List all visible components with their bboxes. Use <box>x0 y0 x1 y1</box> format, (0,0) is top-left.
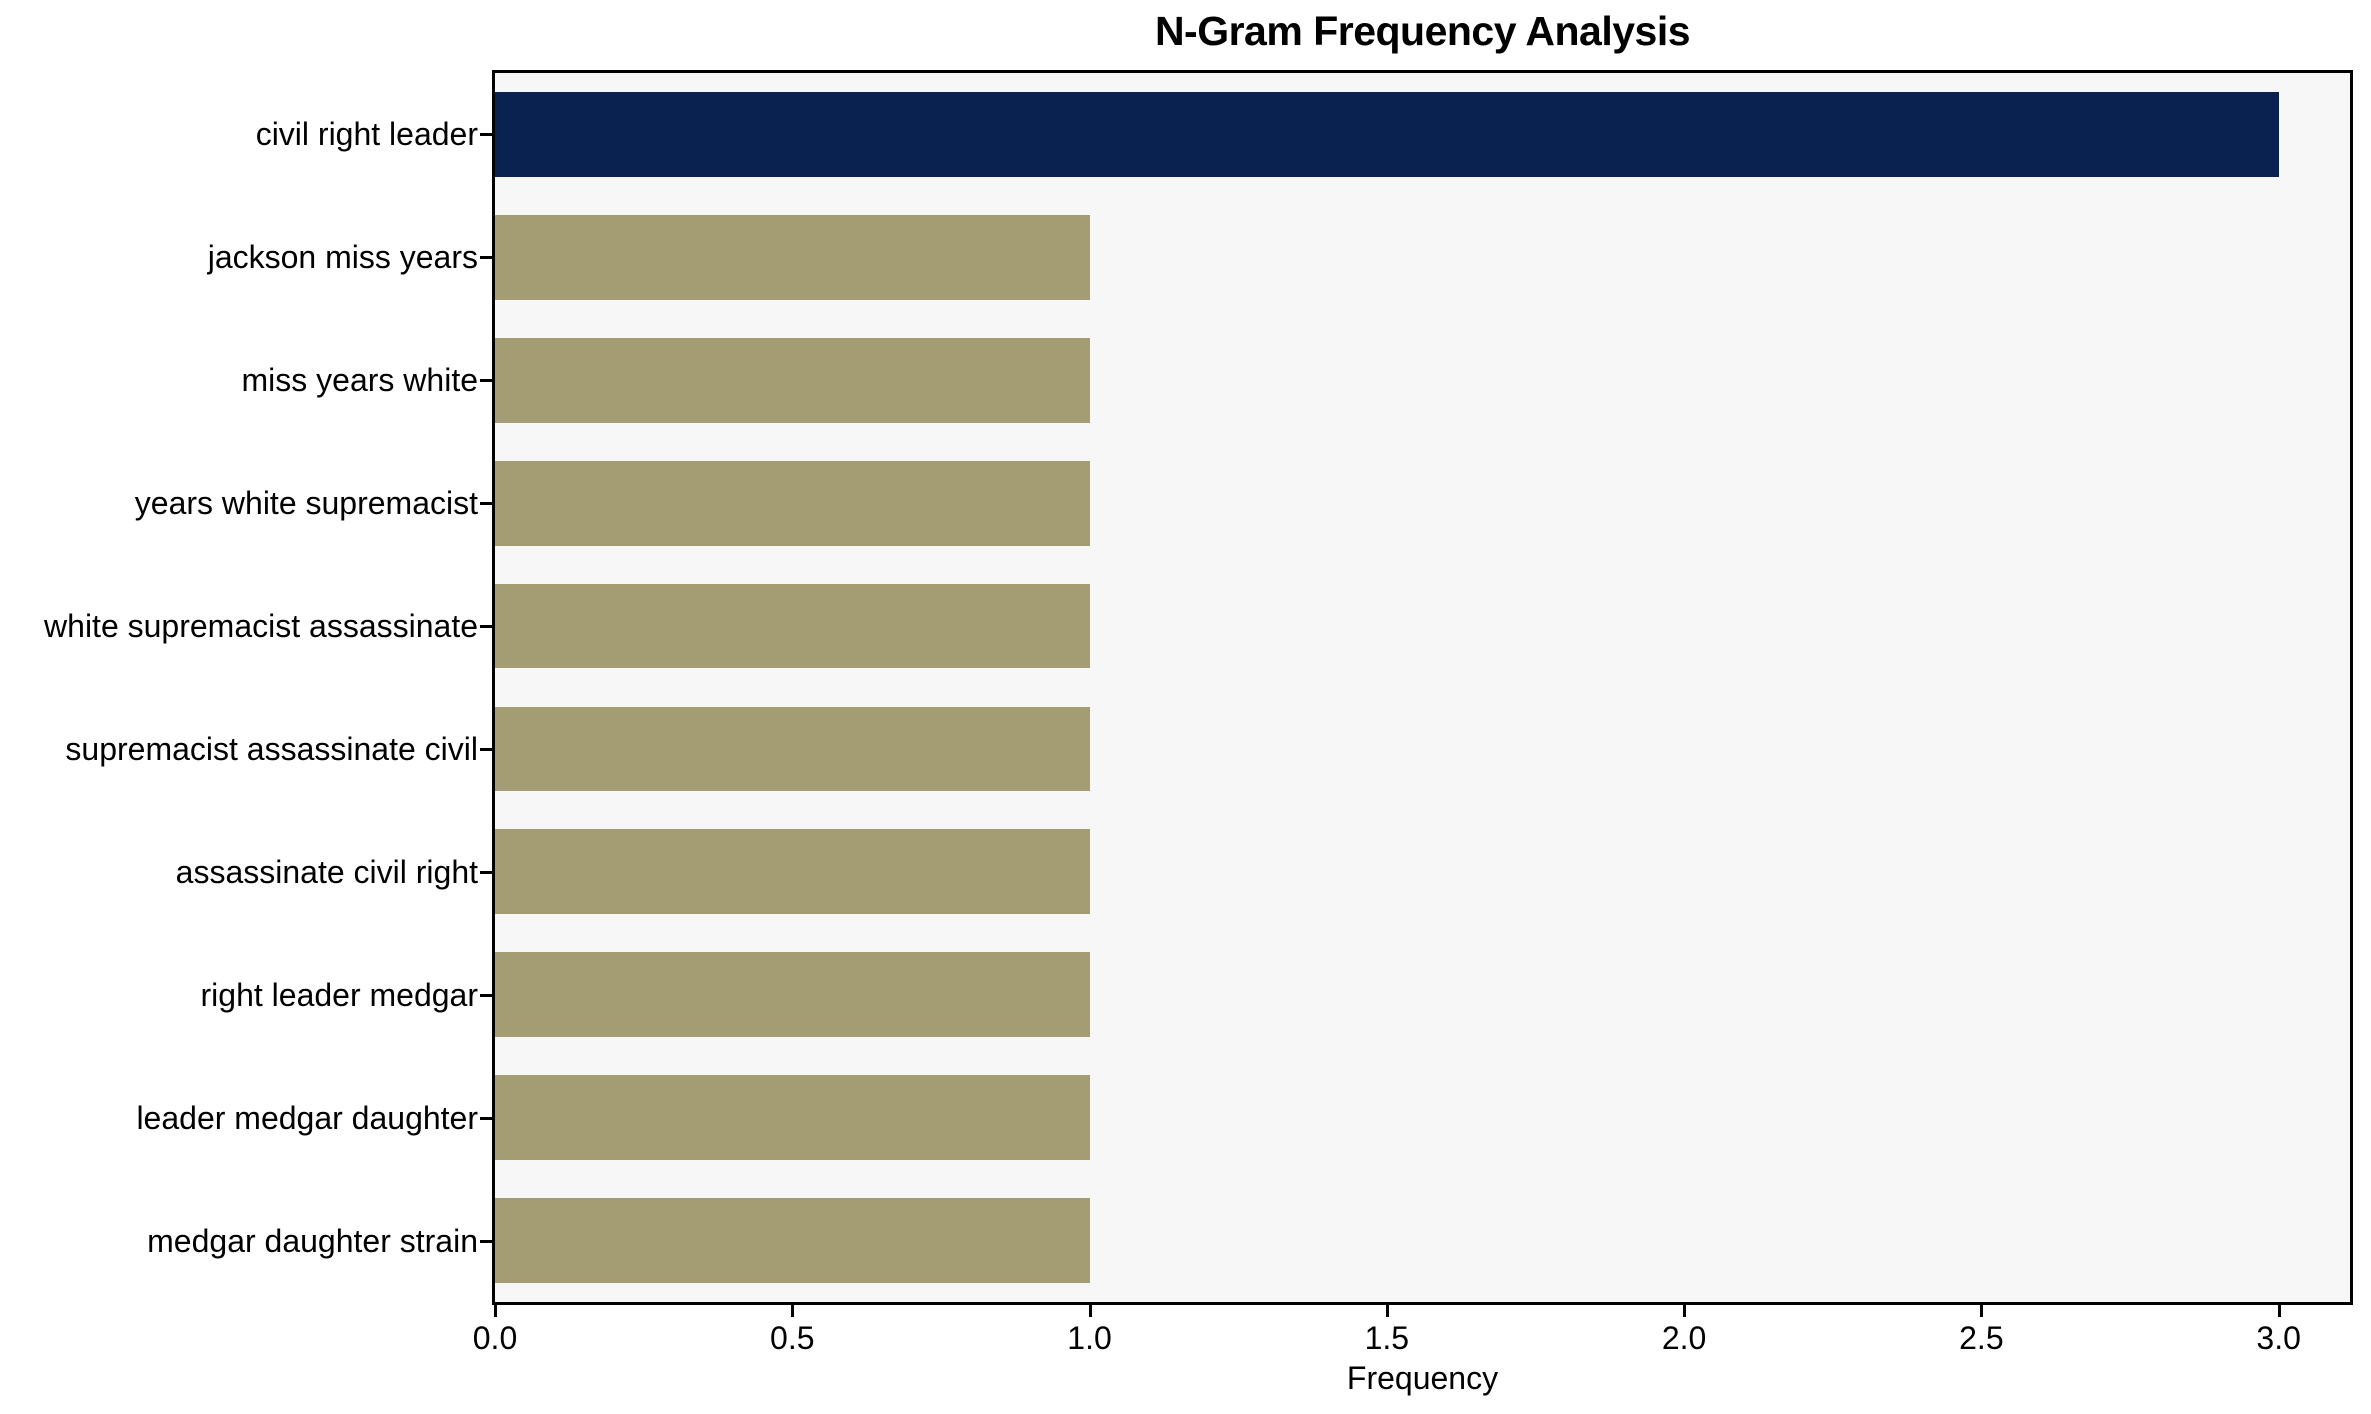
x-axis-tick-label: 2.5 <box>1921 1321 2041 1355</box>
plot-area <box>492 70 2353 1305</box>
y-axis-tick-label: assassinate civil right <box>176 856 478 888</box>
y-axis-tick-label: supremacist assassinate civil <box>65 733 478 765</box>
y-axis-tick-mark <box>480 256 492 259</box>
y-axis-tick-mark <box>480 871 492 874</box>
chart-title: N-Gram Frequency Analysis <box>492 5 2353 57</box>
x-axis-tick-mark <box>1089 1305 1092 1317</box>
bar <box>495 215 1090 300</box>
x-axis-tick-mark <box>494 1305 497 1317</box>
y-axis-tick-label: miss years white <box>242 364 479 396</box>
x-axis-tick-label: 1.0 <box>1030 1321 1150 1355</box>
bar <box>495 461 1090 546</box>
bar <box>495 338 1090 423</box>
y-axis-tick-mark <box>480 502 492 505</box>
x-axis-tick-label: 3.0 <box>2219 1321 2339 1355</box>
x-axis-tick-label: 1.5 <box>1327 1321 1447 1355</box>
x-axis-tick-label: 0.0 <box>435 1321 555 1355</box>
bars-layer <box>495 73 2350 1302</box>
bar <box>495 584 1090 669</box>
y-axis-tick-label: jackson miss years <box>208 241 478 273</box>
x-axis-tick-mark <box>1386 1305 1389 1317</box>
x-axis-label: Frequency <box>492 1360 2353 1397</box>
y-axis-tick-mark <box>480 1240 492 1243</box>
y-axis-tick-mark <box>480 748 492 751</box>
y-axis-tick-mark <box>480 379 492 382</box>
x-axis-tick-mark <box>2278 1305 2281 1317</box>
x-axis-tick-mark <box>1980 1305 1983 1317</box>
bar <box>495 1198 1090 1283</box>
y-axis-tick-mark <box>480 625 492 628</box>
bar <box>495 707 1090 792</box>
y-axis-tick-label: leader medgar daughter <box>136 1102 478 1134</box>
y-axis-tick-label: white supremacist assassinate <box>44 610 478 642</box>
y-axis-tick-mark <box>480 133 492 136</box>
y-axis-tick-mark <box>480 994 492 997</box>
y-axis-tick-label: right leader medgar <box>201 979 478 1011</box>
bar <box>495 829 1090 914</box>
x-axis-tick-label: 0.5 <box>732 1321 852 1355</box>
y-axis-tick-label: years white supremacist <box>135 487 478 519</box>
bar <box>495 92 2279 177</box>
y-axis-tick-label: civil right leader <box>256 118 478 150</box>
chart-figure: N-Gram Frequency Analysis civil right le… <box>0 0 2371 1414</box>
x-axis-tick-label: 2.0 <box>1624 1321 1744 1355</box>
x-axis-tick-mark <box>1683 1305 1686 1317</box>
bar <box>495 952 1090 1037</box>
bar <box>495 1075 1090 1160</box>
y-axis-tick-label: medgar daughter strain <box>147 1225 478 1257</box>
x-axis-tick-mark <box>791 1305 794 1317</box>
y-axis-tick-mark <box>480 1117 492 1120</box>
